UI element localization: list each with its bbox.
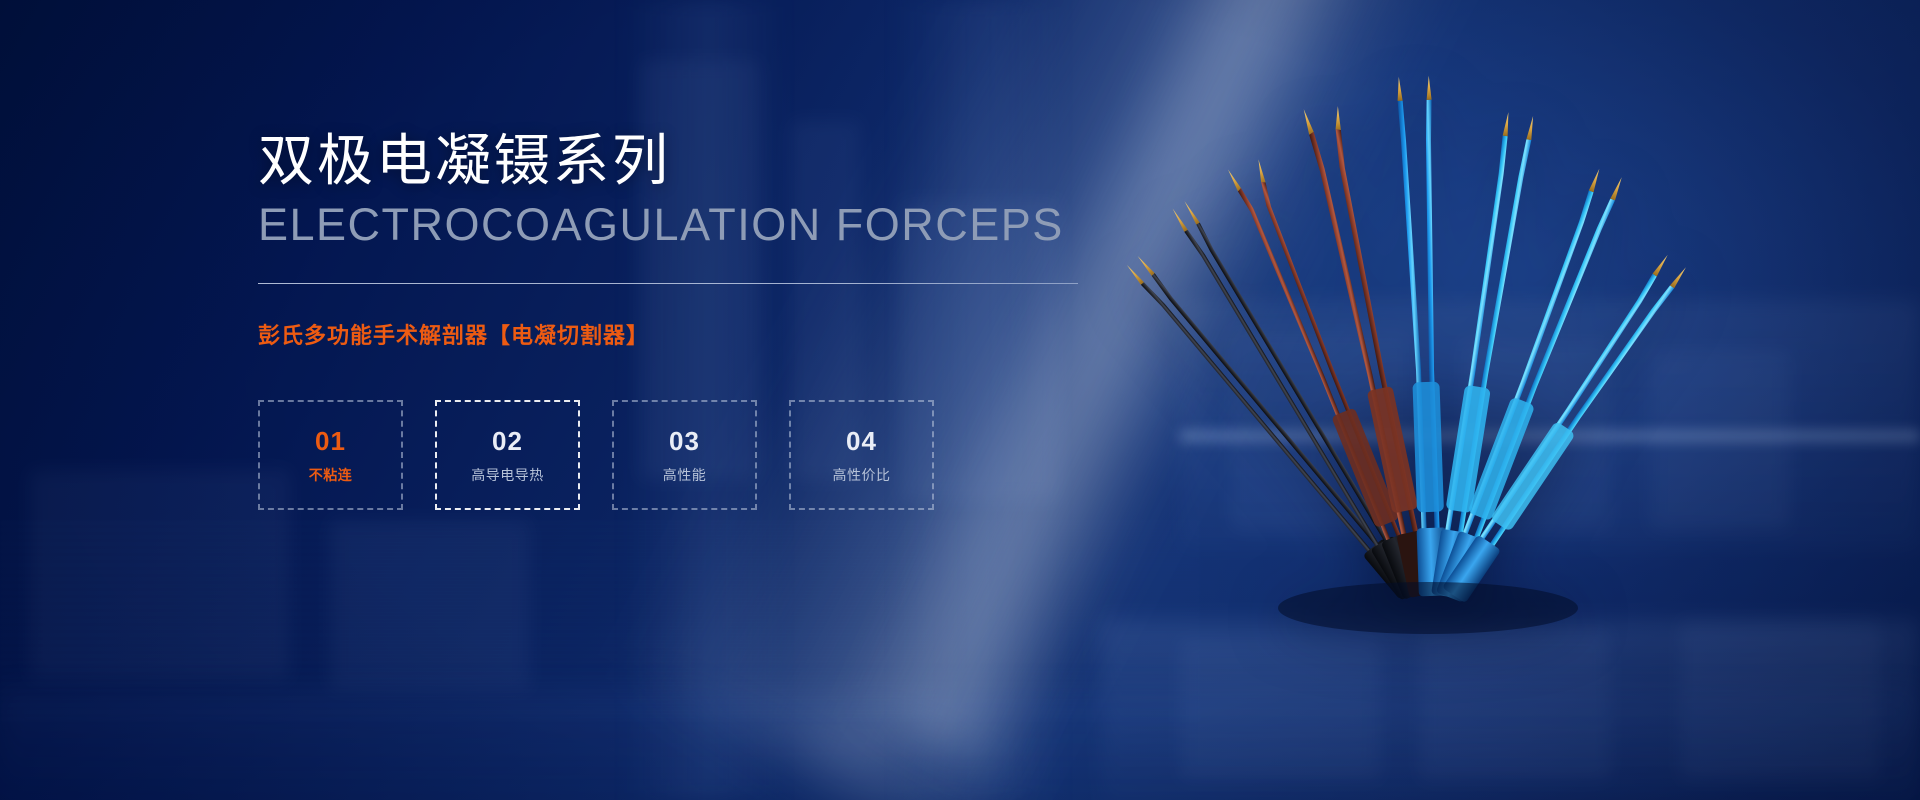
feature-item-01[interactable]: 01 不粘连: [258, 400, 403, 510]
page-title: 双极电凝镊系列: [258, 128, 1158, 194]
forceps-base-shadow: [1278, 582, 1578, 634]
feature-number: 02: [492, 428, 523, 454]
background-floor: [0, 690, 1920, 800]
forceps-blue-center: [1397, 76, 1449, 597]
product-banner: 双极电凝镊系列 ELECTROCOAGULATION FORCEPS 彭氏多功能…: [0, 0, 1920, 800]
feature-number: 04: [846, 428, 877, 454]
title-divider: [258, 283, 1078, 284]
page-subtitle-english: ELECTROCOAGULATION FORCEPS: [258, 200, 1158, 250]
forceps-cyan-2: [1435, 168, 1626, 603]
feature-label: 高性价比: [833, 468, 891, 482]
feature-list: 01 不粘连 02 高导电导热 03 高性能 04 高性价比: [258, 400, 1158, 510]
product-tagline: 彭氏多功能手术解剖器【电凝切割器】: [258, 318, 1158, 350]
banner-content: 双极电凝镊系列 ELECTROCOAGULATION FORCEPS 彭氏多功能…: [258, 128, 1158, 510]
feature-label: 不粘连: [309, 468, 353, 482]
feature-item-02[interactable]: 02 高导电导热: [435, 400, 580, 510]
feature-item-03[interactable]: 03 高性能: [612, 400, 757, 510]
feature-number: 03: [669, 428, 700, 454]
feature-number: 01: [315, 428, 346, 454]
feature-item-04[interactable]: 04 高性价比: [789, 400, 934, 510]
forceps-product-image: [1080, 70, 1700, 630]
feature-label: 高导电导热: [471, 468, 544, 482]
feature-label: 高性能: [663, 468, 707, 482]
